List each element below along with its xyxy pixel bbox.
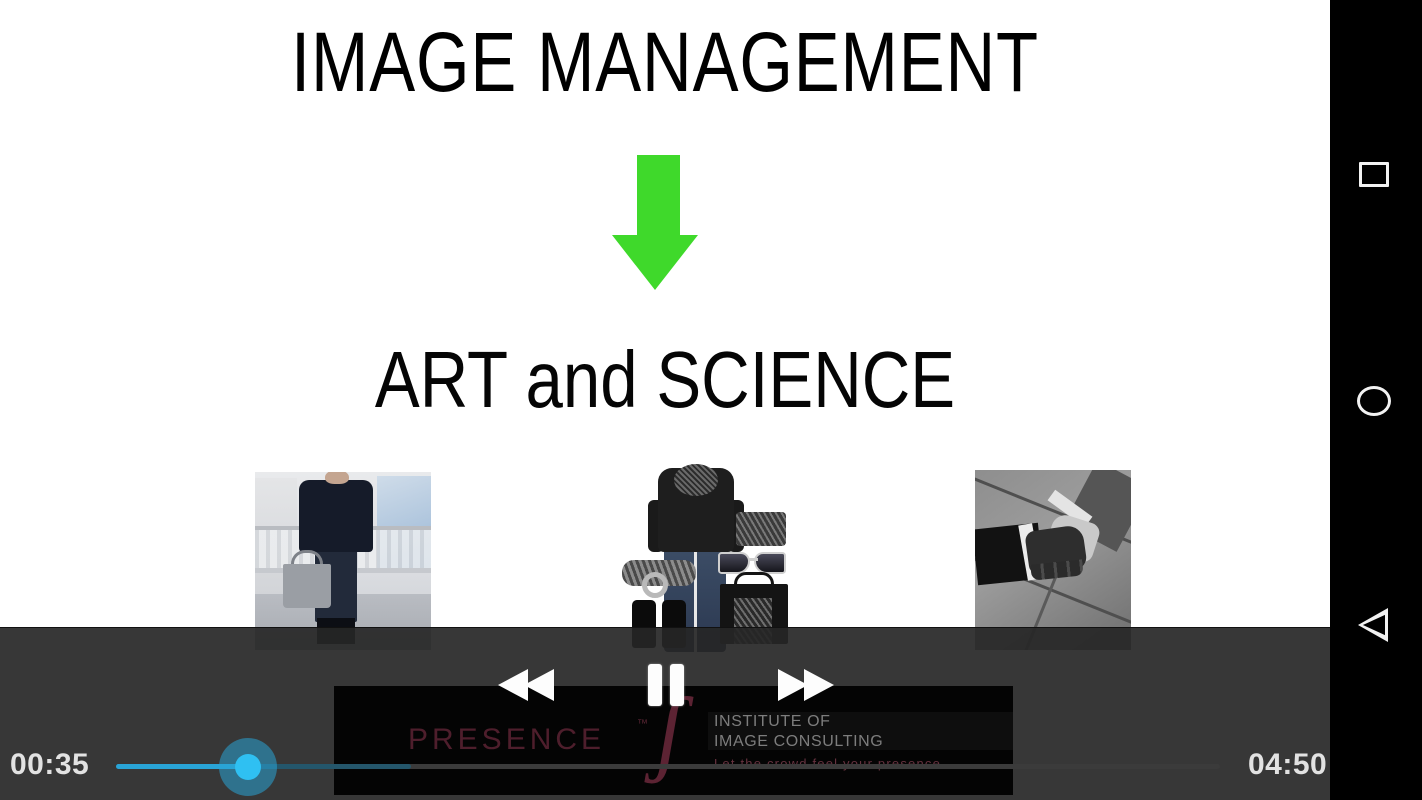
total-time-label: 04:50 xyxy=(1248,748,1327,782)
recents-button[interactable] xyxy=(1330,140,1422,210)
rewind-icon xyxy=(498,669,528,701)
fast-forward-icon-2 xyxy=(804,669,834,701)
green-down-arrow-icon xyxy=(612,155,698,290)
back-button[interactable] xyxy=(1330,590,1422,660)
photo2-sunglasses-bridge xyxy=(748,558,758,561)
photo2-sunglasses-right-lens xyxy=(754,552,786,574)
rewind-button[interactable] xyxy=(498,665,556,705)
trademark-symbol: ™ xyxy=(637,718,648,730)
photo-handshake-black-and-white xyxy=(975,470,1131,650)
video-controls-overlay: PRESENCE ™ ʃ INSTITUTE OF IMAGE CONSULTI… xyxy=(0,627,1330,800)
photo1-person-head xyxy=(325,472,349,484)
institute-line-1: INSTITUTE OF xyxy=(714,712,883,732)
institute-name: INSTITUTE OF IMAGE CONSULTING xyxy=(714,712,883,752)
square-icon xyxy=(1359,162,1389,187)
institute-line-2: IMAGE CONSULTING xyxy=(714,732,883,752)
slide-subtitle: ART and SCIENCE xyxy=(106,334,1223,426)
photo2-cowl-scarf xyxy=(674,464,718,496)
slide-title: IMAGE MANAGEMENT xyxy=(120,14,1211,111)
play-pause-button[interactable] xyxy=(646,662,686,708)
photo2-clutch-bag xyxy=(736,512,786,546)
fast-forward-icon xyxy=(778,669,808,701)
brand-name: PRESENCE xyxy=(408,723,605,757)
current-time-label: 00:35 xyxy=(10,748,89,782)
rewind-icon-2 xyxy=(524,669,554,701)
photo1-tote-bag xyxy=(283,564,331,608)
video-stage[interactable]: IMAGE MANAGEMENT ART and SCIENCE xyxy=(0,0,1330,800)
photo-outfit-flatlay xyxy=(608,460,798,652)
home-button[interactable] xyxy=(1330,366,1422,436)
photo1-blazer xyxy=(299,480,373,552)
app-root: IMAGE MANAGEMENT ART and SCIENCE xyxy=(0,0,1422,800)
arrow-shaft xyxy=(637,155,680,240)
pause-icon-bar-right xyxy=(670,664,684,706)
photo2-belt-buckle xyxy=(642,572,668,598)
circle-icon xyxy=(1357,386,1391,416)
fast-forward-button[interactable] xyxy=(778,665,836,705)
arrow-head xyxy=(612,235,698,290)
photo2-sunglasses-left-lens xyxy=(718,552,750,574)
photo-businesswoman-with-tote-bag xyxy=(255,472,431,650)
pause-icon-bar-left xyxy=(648,664,662,706)
